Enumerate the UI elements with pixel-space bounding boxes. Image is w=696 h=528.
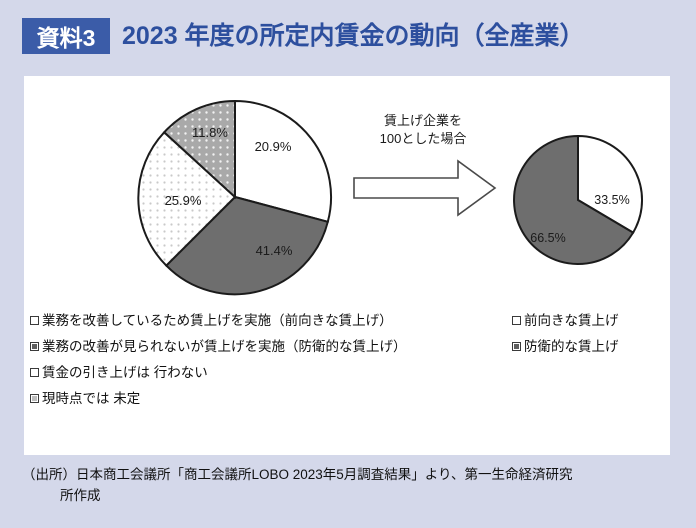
arrow-caption: 賃上げ企業を 100とした場合 [348,112,498,148]
legend-item-label: 前向きな賃上げ [524,312,619,329]
arrow-caption-line1: 賃上げ企業を [348,112,498,130]
legend-item-label: 業務を改善しているため賃上げを実施（前向きな賃上げ） [42,312,393,329]
legend-item-label: 現時点では 未定 [42,390,140,407]
white-square-icon [30,368,39,377]
legend-item: 現時点では 未定 [30,390,470,407]
right-pie-chart: 33.5% 66.5% [510,132,646,268]
legend-item: 賃金の引き上げは 行わない [30,364,470,381]
legend-item-label: 業務の改善が見られないが賃上げを実施（防衛的な賃上げ） [42,338,407,355]
legend-item-label: 防衛的な賃上げ [524,338,619,355]
gray-dotted-square-icon [30,394,39,403]
page-title: 2023 年度の所定内賃金の動向（全産業） [122,17,585,55]
white-square-icon [30,316,39,325]
legend-item-label: 賃金の引き上げは 行わない [42,364,208,381]
header: 資料3 2023 年度の所定内賃金の動向（全産業） [0,0,696,76]
left-pie-label-3: 25.9% [165,193,202,208]
figure-badge: 資料3 [22,18,110,54]
left-pie-svg: 20.9% 41.4% 25.9% 11.8% [133,95,337,299]
right-arrow-icon [352,158,498,218]
dark-square-icon [512,342,521,351]
legend-item: 業務を改善しているため賃上げを実施（前向きな賃上げ） [30,312,470,329]
left-pie-label-1: 20.9% [255,139,292,154]
arrow-caption-line2: 100とした場合 [348,130,498,148]
left-pie-label-2: 41.4% [256,243,293,258]
right-pie-svg: 33.5% 66.5% [510,132,646,268]
right-pie-label-1: 33.5% [594,193,629,207]
source-line-2: 所作成 [22,485,682,506]
right-legend: 前向きな賃上げ 防衛的な賃上げ [512,312,672,364]
left-pie-label-4: 11.8% [192,125,228,140]
left-legend: 業務を改善しているため賃上げを実施（前向きな賃上げ） 業務の改善が見られないが賃… [30,312,470,416]
source-note: （出所）日本商工会議所「商工会議所LOBO 2023年5月調査結果」より、第一生… [22,464,682,506]
legend-item: 防衛的な賃上げ [512,338,672,355]
left-pie-chart: 20.9% 41.4% 25.9% 11.8% [133,95,337,299]
right-pie-label-2: 66.5% [530,231,565,245]
arrow-block: 賃上げ企業を 100とした場合 [348,112,498,217]
legend-item: 前向きな賃上げ [512,312,672,329]
source-line-1: （出所）日本商工会議所「商工会議所LOBO 2023年5月調査結果」より、第一生… [22,467,573,482]
dark-square-icon [30,342,39,351]
legend-item: 業務の改善が見られないが賃上げを実施（防衛的な賃上げ） [30,338,470,355]
white-square-icon [512,316,521,325]
